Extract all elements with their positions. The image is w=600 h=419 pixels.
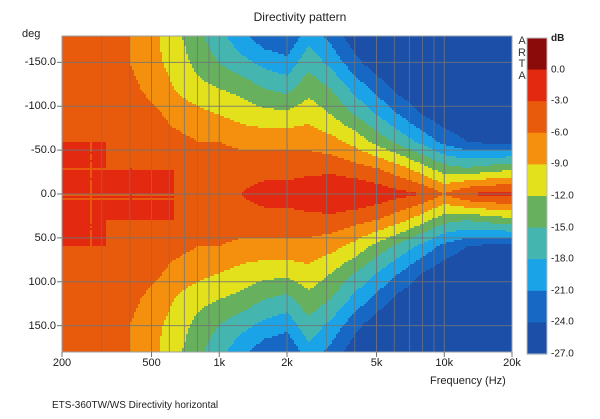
colorbar-band bbox=[527, 164, 547, 196]
colorbar-band bbox=[527, 70, 547, 102]
colorbar-band bbox=[527, 38, 547, 70]
colorbar-band bbox=[527, 133, 547, 165]
colorbar-band bbox=[527, 101, 547, 133]
colorbar-swatches bbox=[527, 38, 547, 355]
colorbar-band bbox=[527, 196, 547, 228]
directivity-chart-screenshot: Directivity pattern deg Frequency (Hz) d… bbox=[0, 0, 600, 419]
colorbar-band bbox=[527, 322, 547, 354]
plot-gridlines bbox=[62, 36, 512, 352]
directivity-heatmap bbox=[0, 0, 600, 419]
colorbar-band bbox=[527, 291, 547, 323]
colorbar-band bbox=[527, 259, 547, 291]
colorbar-band bbox=[527, 228, 547, 260]
